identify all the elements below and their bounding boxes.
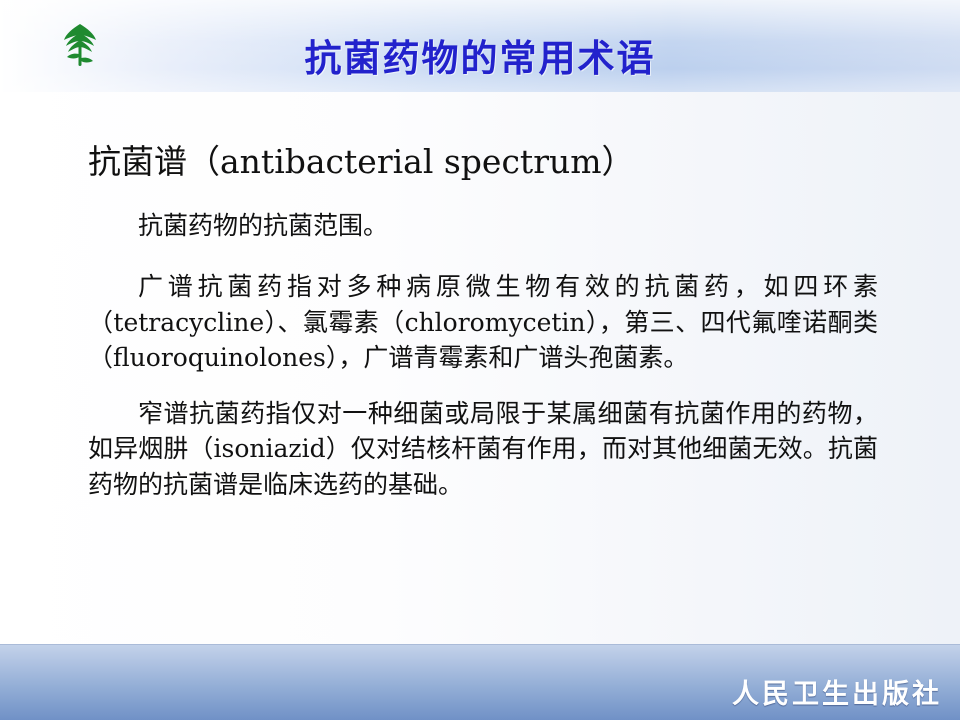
- slide: 抗菌药物的常用术语 抗菌谱（antibacterial spectrum） 抗菌…: [0, 0, 960, 720]
- section-heading: 抗菌谱（antibacterial spectrum）: [88, 142, 888, 182]
- page-title: 抗菌药物的常用术语: [0, 28, 960, 82]
- paragraph-3: 窄谱抗菌药指仅对一种细菌或局限于某属细菌有抗菌作用的药物，如异烟肼（isonia…: [88, 396, 878, 503]
- content-block: 抗菌谱（antibacterial spectrum） 抗菌药物的抗菌范围。 广…: [88, 142, 888, 522]
- slide-body: 抗菌谱（antibacterial spectrum） 抗菌药物的抗菌范围。 广…: [0, 92, 960, 644]
- paragraph-2: 广谱抗菌药指对多种病原微生物有效的抗菌药，如四环素（tetracycline）、…: [88, 269, 878, 376]
- slide-header: 抗菌药物的常用术语: [0, 0, 960, 93]
- slide-footer: 人民卫生出版社: [0, 644, 960, 720]
- publisher-logo: 人民卫生出版社: [732, 672, 942, 711]
- paragraph-1: 抗菌药物的抗菌范围。: [88, 208, 878, 244]
